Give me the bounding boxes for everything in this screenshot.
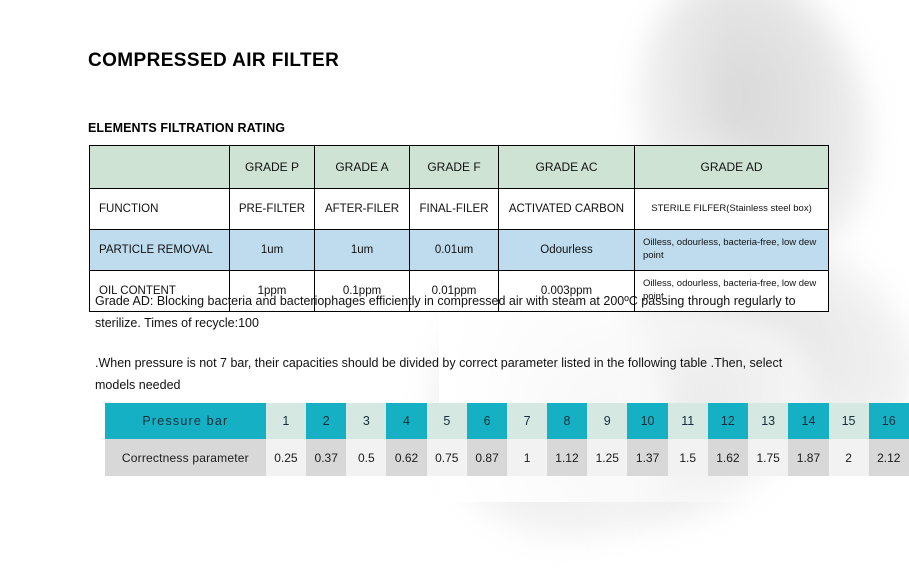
- pressure-cell-4: 4: [386, 403, 426, 439]
- cell-particle-grade-p: 1um: [230, 230, 315, 271]
- cell-function-grade-f: FINAL-FILER: [410, 189, 499, 230]
- correctness-cell-13: 1.75: [748, 439, 788, 476]
- table-row-function: FUNCTION PRE-FILTER AFTER-FILER FINAL-FI…: [90, 189, 829, 230]
- row-label-function: FUNCTION: [90, 189, 230, 230]
- correctness-cell-10: 1.37: [627, 439, 667, 476]
- table-corner-cell: [90, 146, 230, 189]
- column-header-grade-ad: GRADE AD: [635, 146, 829, 189]
- column-header-grade-p: GRADE P: [230, 146, 315, 189]
- column-header-grade-f: GRADE F: [410, 146, 499, 189]
- pressure-cell-10: 10: [627, 403, 667, 439]
- cell-particle-grade-ac: Odourless: [499, 230, 635, 271]
- correctness-cell-15: 2: [829, 439, 869, 476]
- table-header-row: GRADE P GRADE A GRADE F GRADE AC GRADE A…: [90, 146, 829, 189]
- column-header-grade-a: GRADE A: [315, 146, 410, 189]
- table-row-particle-removal: PARTICLE REMOVAL 1um 1um 0.01um Odourles…: [90, 230, 829, 271]
- correctness-cell-11: 1.5: [668, 439, 708, 476]
- correctness-cell-5: 0.75: [427, 439, 467, 476]
- pressure-cell-9: 9: [587, 403, 627, 439]
- correctness-cell-4: 0.62: [386, 439, 426, 476]
- elements-filtration-rating-table: GRADE P GRADE A GRADE F GRADE AC GRADE A…: [89, 145, 829, 312]
- correctness-cell-9: 1.25: [587, 439, 627, 476]
- row-label-particle-removal: PARTICLE REMOVAL: [90, 230, 230, 271]
- correctness-cell-14: 1.87: [788, 439, 828, 476]
- pressure-cell-1: 1: [266, 403, 306, 439]
- pressure-cell-7: 7: [507, 403, 547, 439]
- cell-particle-grade-ad: Oilless, odourless, bacteria-free, low d…: [635, 230, 829, 271]
- pressure-cell-2: 2: [306, 403, 346, 439]
- cell-function-grade-ad: STERILE FILFER(Stainless steel box): [635, 189, 829, 230]
- cell-particle-grade-f: 0.01um: [410, 230, 499, 271]
- pressure-cell-15: 15: [829, 403, 869, 439]
- pressure-correctness-parameter-table: Pressure bar 12345678910111213141516 Cor…: [105, 403, 909, 476]
- pressure-row-label: Pressure bar: [105, 403, 266, 439]
- correctness-cell-2: 0.37: [306, 439, 346, 476]
- cell-function-grade-p: PRE-FILTER: [230, 189, 315, 230]
- correctness-cell-7: 1: [507, 439, 547, 476]
- correctness-parameter-row: Correctness parameter 0.250.370.50.620.7…: [105, 439, 909, 476]
- column-header-grade-ac: GRADE AC: [499, 146, 635, 189]
- correctness-cell-3: 0.5: [346, 439, 386, 476]
- correctness-cell-8: 1.12: [547, 439, 587, 476]
- pressure-cell-6: 6: [467, 403, 507, 439]
- note-grade-ad: Grade AD: Blocking bacteria and bacterio…: [95, 290, 825, 334]
- cell-function-grade-a: AFTER-FILER: [315, 189, 410, 230]
- pressure-cell-13: 13: [748, 403, 788, 439]
- pressure-cell-3: 3: [346, 403, 386, 439]
- pressure-cell-11: 11: [668, 403, 708, 439]
- correctness-cell-12: 1.62: [708, 439, 748, 476]
- pressure-header-row: Pressure bar 12345678910111213141516: [105, 403, 909, 439]
- cell-function-grade-ac: ACTIVATED CARBON: [499, 189, 635, 230]
- page-title: COMPRESSED AIR FILTER: [88, 50, 339, 72]
- correctness-cell-16: 2.12: [869, 439, 909, 476]
- pressure-cell-5: 5: [427, 403, 467, 439]
- correctness-row-label: Correctness parameter: [105, 439, 266, 476]
- cell-particle-grade-a: 1um: [315, 230, 410, 271]
- pressure-cell-8: 8: [547, 403, 587, 439]
- pressure-cell-14: 14: [788, 403, 828, 439]
- pressure-cell-16: 16: [869, 403, 909, 439]
- section-title: ELEMENTS FILTRATION RATING: [88, 121, 285, 135]
- correctness-cell-1: 0.25: [266, 439, 306, 476]
- note-pressure: .When pressure is not 7 bar, their capac…: [95, 352, 825, 396]
- correctness-cell-6: 0.87: [467, 439, 507, 476]
- pressure-cell-12: 12: [708, 403, 748, 439]
